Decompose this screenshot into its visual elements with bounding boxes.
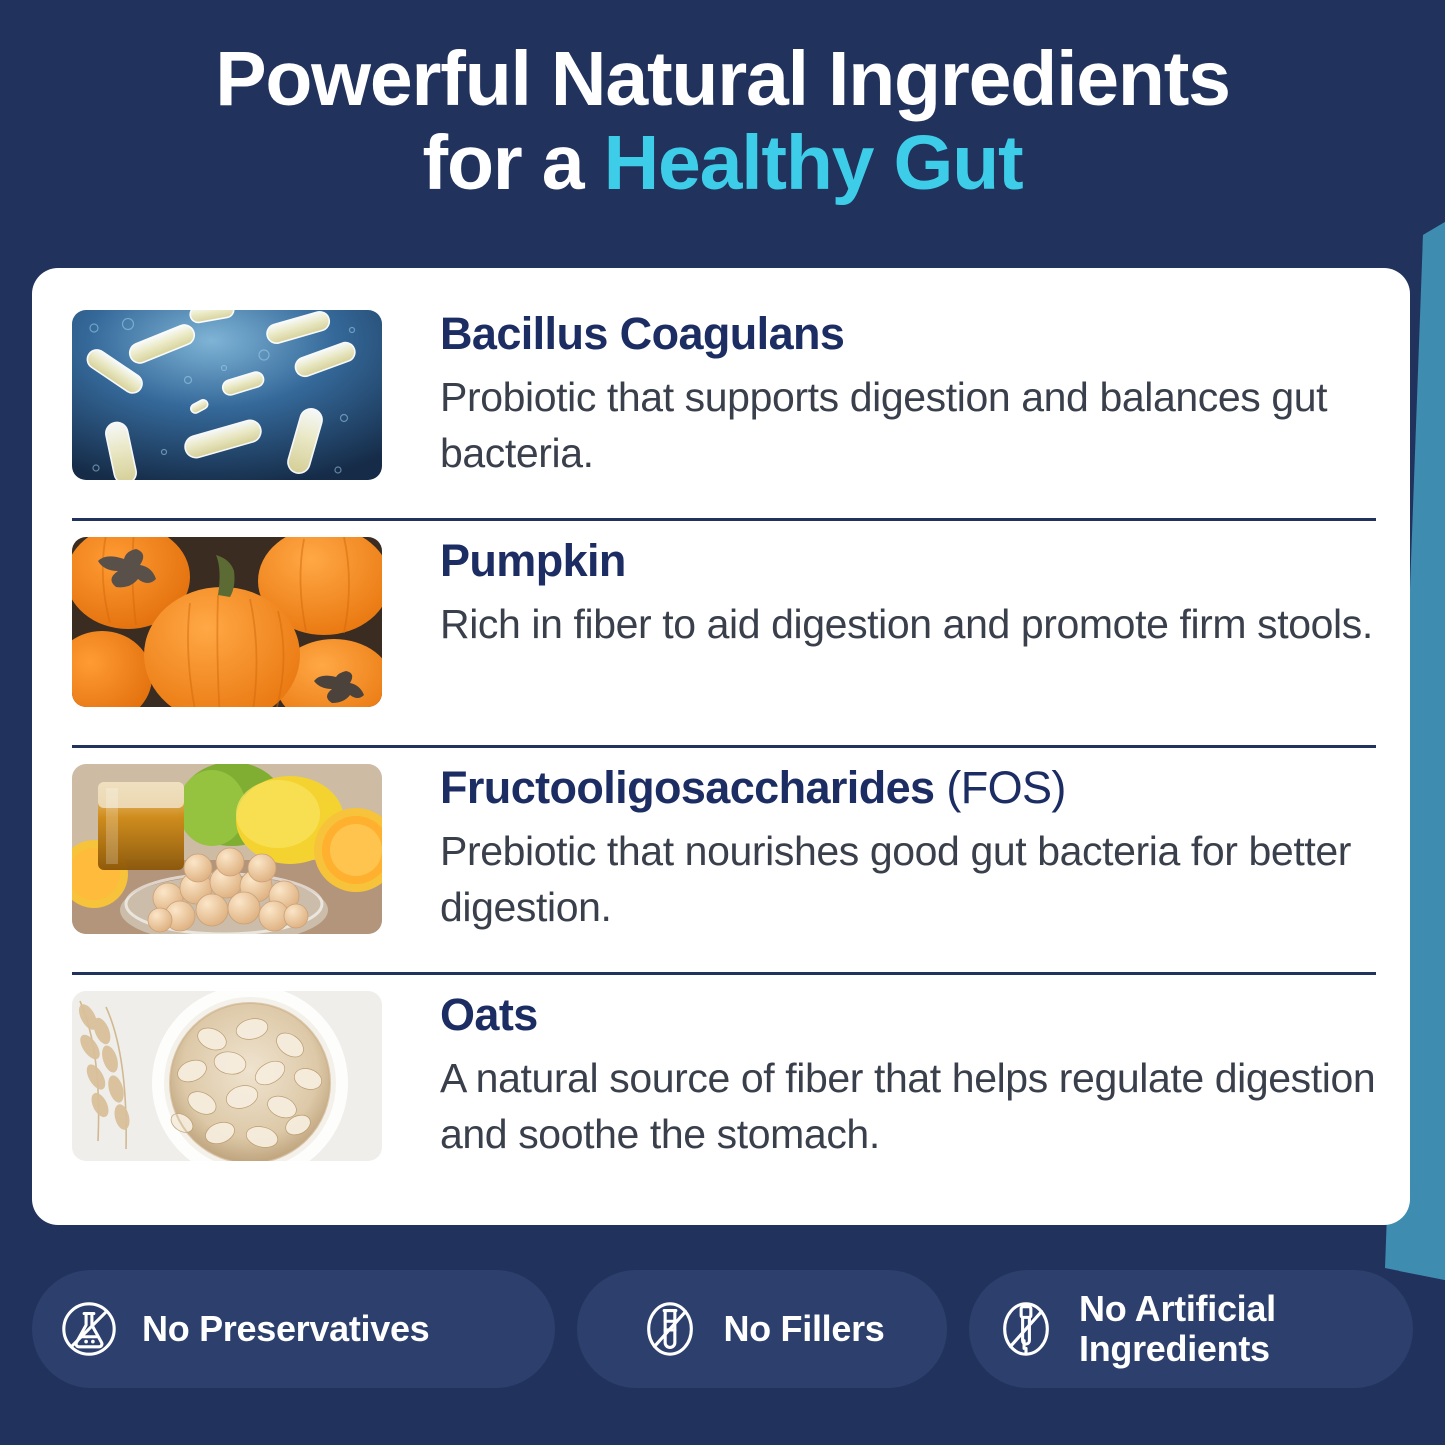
ingredient-title-main: Fructooligosaccharides (440, 762, 934, 813)
pumpkin-photo (72, 537, 382, 707)
badge-no-artificial-ingredients[interactable]: No ArtificialIngredients (969, 1270, 1413, 1388)
ingredient-description: Prebiotic that nourishes good gut bacter… (440, 823, 1376, 936)
ingredient-row: Oats A natural source of fiber that help… (72, 972, 1376, 1199)
ingredient-text: Fructooligosaccharides (FOS) Prebiotic t… (382, 760, 1376, 936)
ingredient-title: Pumpkin (440, 537, 1376, 586)
ingredient-text: Pumpkin Rich in fiber to aid digestion a… (382, 533, 1376, 652)
title-line-2: for a Healthy Gut (40, 122, 1405, 206)
ingredient-row: Fructooligosaccharides (FOS) Prebiotic t… (72, 745, 1376, 972)
title-line-1: Powerful Natural Ingredients (40, 38, 1405, 122)
chickpeas-citrus-photo (72, 764, 382, 934)
title-prefix: for a (423, 120, 604, 206)
ingredient-title-main: Oats (440, 989, 538, 1040)
ingredient-title: Fructooligosaccharides (FOS) (440, 764, 1376, 813)
title-highlight: Healthy Gut (604, 120, 1023, 206)
ingredient-title-abbr: (FOS) (934, 762, 1065, 813)
badge-label: No ArtificialIngredients (1079, 1289, 1276, 1370)
ingredient-title-main: Pumpkin (440, 535, 626, 586)
ingredient-title: Bacillus Coagulans (440, 310, 1376, 359)
ingredients-card: Bacillus Coagulans Probiotic that suppor… (32, 268, 1410, 1225)
page-title: Powerful Natural Ingredients for a Healt… (0, 38, 1445, 206)
badge-no-preservatives[interactable]: No Preservatives (32, 1270, 555, 1388)
ingredient-row: Bacillus Coagulans Probiotic that suppor… (72, 294, 1376, 518)
infographic-root: Powerful Natural Ingredients for a Healt… (0, 0, 1445, 1445)
bacteria-photo (72, 310, 382, 480)
ingredient-title-main: Bacillus Coagulans (440, 308, 844, 359)
ingredient-description: Probiotic that supports digestion and ba… (440, 369, 1376, 482)
ingredient-description: A natural source of fiber that helps reg… (440, 1050, 1376, 1163)
ingredient-row: Pumpkin Rich in fiber to aid digestion a… (72, 518, 1376, 745)
claims-badge-row: No Preservatives No Fillers (32, 1270, 1413, 1388)
oats-bowl-photo (72, 991, 382, 1161)
no-testtube-icon (639, 1298, 701, 1360)
no-flask-icon (58, 1298, 120, 1360)
badge-label: No Fillers (723, 1309, 884, 1349)
ingredient-text: Oats A natural source of fiber that help… (382, 987, 1376, 1163)
ingredient-title: Oats (440, 991, 1376, 1040)
ingredient-description: Rich in fiber to aid digestion and promo… (440, 596, 1376, 653)
badge-no-fillers[interactable]: No Fillers (577, 1270, 947, 1388)
no-dropper-icon (995, 1298, 1057, 1360)
ingredient-text: Bacillus Coagulans Probiotic that suppor… (382, 306, 1376, 482)
badge-label: No Preservatives (142, 1309, 429, 1349)
